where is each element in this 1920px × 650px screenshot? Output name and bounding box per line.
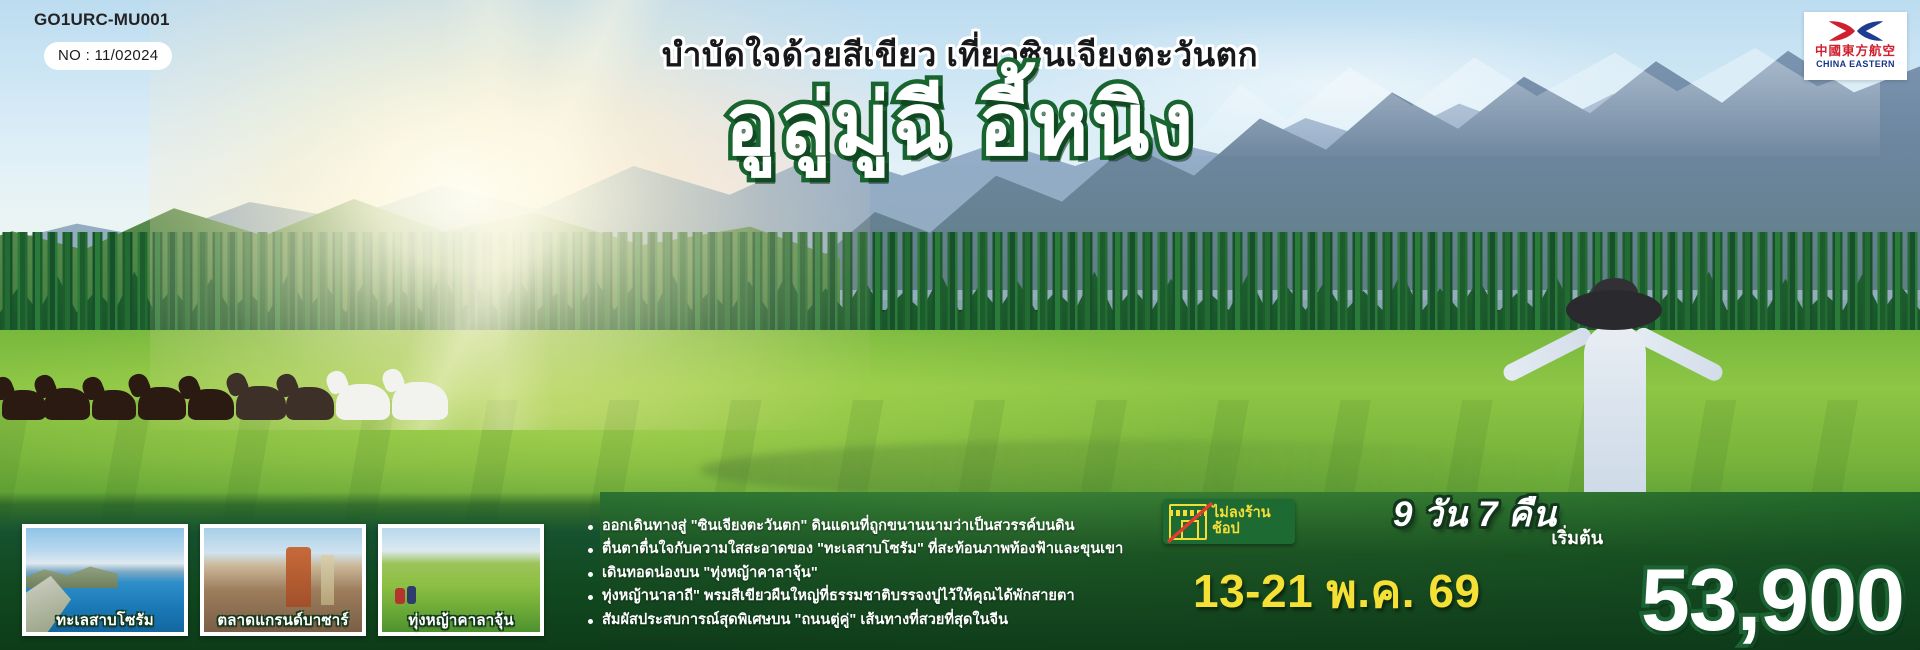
banner-subtitle: บำบัดใจด้วยสีเขียว เที่ยวซินเจียงตะวันตก	[0, 28, 1920, 81]
no-shop-label: ไม่ลงร้าน ช้อป	[1212, 506, 1271, 536]
horse	[336, 384, 390, 420]
bullet-dot-icon	[588, 595, 593, 600]
thumbnail-item[interactable]: ทุ่งหญ้าคาลาจุ้น	[378, 524, 544, 636]
bullet-dot-icon	[588, 572, 593, 577]
no-shop-badge: ไม่ลงร้าน ช้อป	[1163, 499, 1295, 544]
bullet-dot-icon	[588, 619, 593, 624]
list-item: สัมผัสประสบการณ์สุดพิเศษบน "ถนนตู่คู่" เ…	[588, 609, 1148, 632]
price-value: 53,900	[1641, 556, 1904, 644]
highlight-text: ตื่นตาตื่นใจกับความใสสะอาดของ "ทะเลสาบโซ…	[602, 538, 1123, 561]
list-item: ออกเดินทางสู่ "ซินเจียงตะวันตก" ดินแดนที…	[588, 515, 1148, 538]
thumbnail-item[interactable]: ตลาดแกรนด์บาซาร์	[200, 524, 366, 636]
travel-date: 13-21 พ.ค. 69	[1193, 555, 1481, 628]
thumbnail-item[interactable]: ทะเลสาบโซรัม	[22, 524, 188, 636]
horse	[44, 388, 90, 420]
horse	[392, 382, 448, 420]
no-shop-line2: ช้อป	[1212, 522, 1271, 537]
arm-right	[1632, 325, 1725, 384]
page-title: อูลู่มู่ฉี อี้หนิง	[0, 78, 1920, 173]
thumbnail-strip: ทะเลสาบโซรัม ตลาดแกรนด์บาซาร์ ทุ่งหญ้าคา…	[22, 524, 544, 636]
highlight-text: ออกเดินทางสู่ "ซินเจียงตะวันตก" ดินแดนที…	[602, 515, 1075, 538]
running-horses	[0, 300, 480, 420]
horse	[92, 390, 136, 420]
horse	[286, 387, 334, 420]
sun-hat	[1566, 290, 1662, 330]
thumbnail-caption: ทุ่งหญ้าคาลาจุ้น	[378, 608, 544, 632]
highlight-text: ทุ่งหญ้านาลาถี" พรมสีเขียวผืนใหญ่ที่ธรรม…	[602, 585, 1075, 608]
duration-label: 9 วัน 7 คืน	[1393, 487, 1557, 542]
tour-code: GO1URC-MU001	[34, 10, 170, 30]
thumbnail-caption: ทะเลสาบโซรัม	[22, 608, 188, 632]
price-from-label: เริ่มต้น	[1551, 523, 1603, 552]
horse	[138, 387, 186, 420]
list-item: ตื่นตาตื่นใจกับความใสสะอาดของ "ทะเลสาบโซ…	[588, 538, 1148, 561]
list-item: ทุ่งหญ้านาลาถี" พรมสีเขียวผืนใหญ่ที่ธรรม…	[588, 585, 1148, 608]
bullet-dot-icon	[588, 525, 593, 530]
thumbnail-caption: ตลาดแกรนด์บาซาร์	[200, 608, 366, 632]
highlight-text: เดินทอดน่องบน "ทุ่งหญ้าคาลาจุ้น"	[602, 562, 818, 585]
horse	[188, 389, 234, 420]
list-item: เดินทอดน่องบน "ทุ่งหญ้าคาลาจุ้น"	[588, 562, 1148, 585]
body	[1584, 324, 1646, 514]
no-slash-icon	[1165, 500, 1215, 546]
highlights-list: ออกเดินทางสู่ "ซินเจียงตะวันตก" ดินแดนที…	[588, 515, 1148, 632]
travel-promo-banner: GO1URC-MU001 NO : 11/02024 中國東方航空 CHINA …	[0, 0, 1920, 650]
arm-left	[1501, 325, 1594, 384]
shop-icon	[1169, 504, 1207, 540]
bullet-dot-icon	[588, 548, 593, 553]
highlight-text: สัมผัสประสบการณ์สุดพิเศษบน "ถนนตู่คู่" เ…	[602, 609, 1008, 632]
traveler-silhouette	[1480, 290, 1730, 520]
no-shop-line1: ไม่ลงร้าน	[1212, 506, 1271, 521]
